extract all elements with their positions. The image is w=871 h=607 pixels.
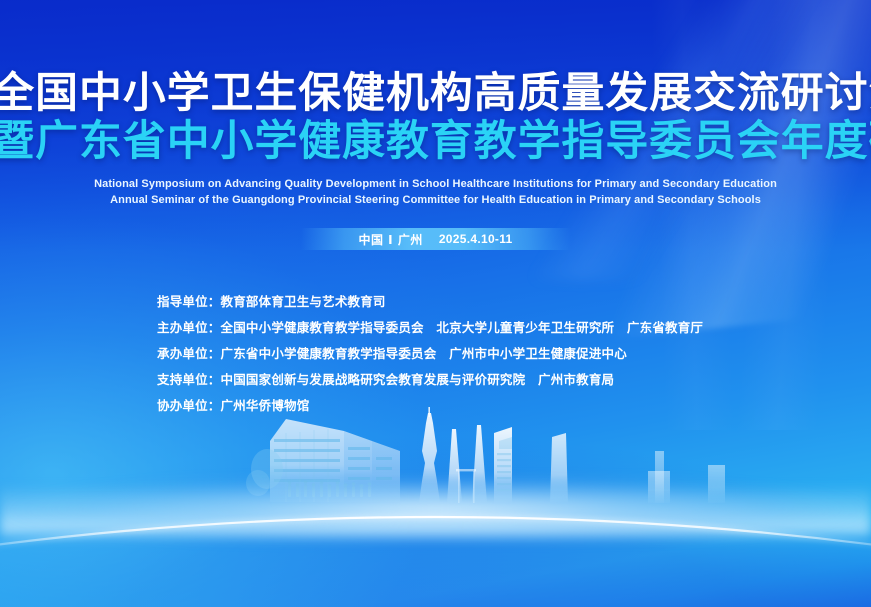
organization-row: 主办单位： 全国中小学健康教育教学指导委员会 北京大学儿童青少年卫生研究所 广东… xyxy=(157,313,703,339)
subtitle-block: National Symposium on Advancing Quality … xyxy=(0,177,871,209)
organization-label: 主办单位： xyxy=(157,317,221,336)
badge-location: 中国 I 广州 xyxy=(359,231,423,248)
conference-poster: 全国中小学卫生保健机构高质量发展交流研讨活动 暨广东省中小学健康教育教学指导委员… xyxy=(0,0,871,607)
subtitle-line-2: Annual Seminar of the Guangdong Provinci… xyxy=(0,193,871,209)
organizations-list: 指导单位： 教育部体育卫生与艺术教育司 主办单位： 全国中小学健康教育教学指导委… xyxy=(157,287,703,417)
organization-label: 协办单位： xyxy=(157,395,221,414)
event-badge: 中国 I 广州 2025.4.10-11 xyxy=(301,228,571,250)
title-line-2: 暨广东省中小学健康教育教学指导委员会年度研讨活动 xyxy=(0,120,871,162)
organization-label: 支持单位： xyxy=(157,369,221,388)
organization-label: 指导单位： xyxy=(157,291,221,310)
event-badge-wrapper: 中国 I 广州 2025.4.10-11 xyxy=(0,228,871,250)
organization-row: 指导单位： 教育部体育卫生与艺术教育司 xyxy=(157,287,703,313)
badge-date: 2025.4.10-11 xyxy=(439,232,513,246)
organization-value: 全国中小学健康教育教学指导委员会 北京大学儿童青少年卫生研究所 广东省教育厅 xyxy=(221,317,704,336)
organization-row: 支持单位： 中国国家创新与发展战略研究会教育发展与评价研究院 广州市教育局 xyxy=(157,365,703,391)
organization-value: 广州华侨博物馆 xyxy=(221,395,310,414)
organization-row: 承办单位： 广东省中小学健康教育教学指导委员会 广州市中小学卫生健康促进中心 xyxy=(157,339,703,365)
organization-value: 广东省中小学健康教育教学指导委员会 广州市中小学卫生健康促进中心 xyxy=(221,343,627,362)
organization-row: 协办单位： 广州华侨博物馆 xyxy=(157,391,703,417)
organization-value: 教育部体育卫生与艺术教育司 xyxy=(221,291,386,310)
horizon-arc xyxy=(0,387,871,607)
title-block: 全国中小学卫生保健机构高质量发展交流研讨活动 暨广东省中小学健康教育教学指导委员… xyxy=(0,72,871,162)
subtitle-line-1: National Symposium on Advancing Quality … xyxy=(0,177,871,193)
title-line-1: 全国中小学卫生保健机构高质量发展交流研讨活动 xyxy=(0,72,871,114)
organization-label: 承办单位： xyxy=(157,343,221,362)
organization-value: 中国国家创新与发展战略研究会教育发展与评价研究院 广州市教育局 xyxy=(221,369,615,388)
